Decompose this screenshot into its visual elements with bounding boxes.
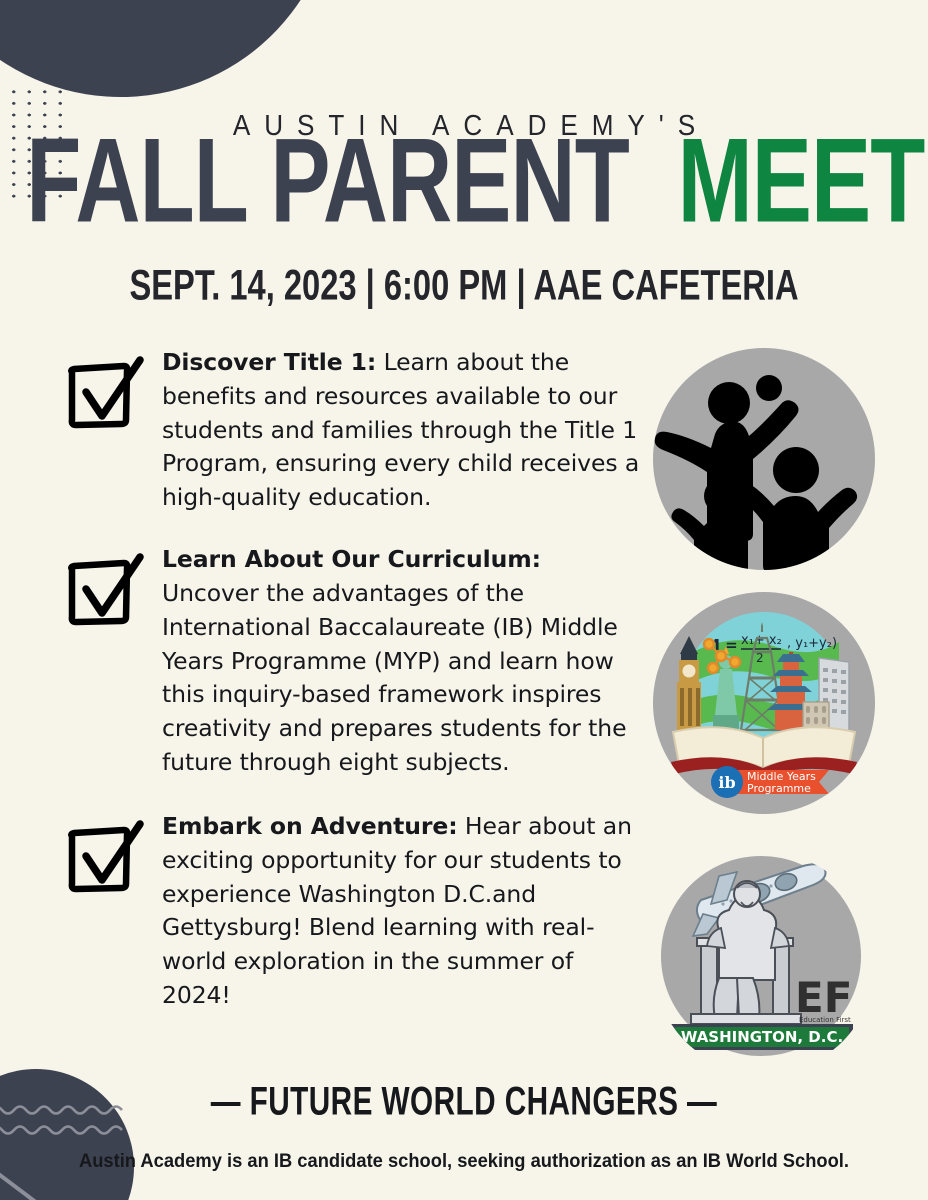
poster-canvas: AUSTIN ACADEMY'S FALL PARENT MEETING SEP… (0, 0, 928, 1200)
bullet-body: Uncover the advantages of the Internatio… (162, 579, 626, 776)
title-part-two: MEETING (677, 125, 928, 235)
dc-banner-text: WASHINGTON, D.C. (681, 1028, 843, 1046)
bullet-text-adventure: Embark on Adventure: Hear about an excit… (162, 810, 640, 1013)
svg-text:EF: EF (795, 973, 852, 1022)
checkbox-checked-icon (62, 818, 148, 898)
checkbox-checked-icon (62, 354, 148, 434)
bullet-heading: Embark on Adventure: (162, 812, 458, 840)
bullet-body: Hear about an exciting opportunity for o… (162, 812, 632, 1009)
ef-logo: EF Education First (795, 973, 852, 1024)
ib-myp-logo-image: M = x₁+ x₂ 2 , y₁+y₂) (653, 592, 875, 814)
title-1-family-icon (653, 348, 875, 570)
poster-header: AUSTIN ACADEMY'S FALL PARENT MEETING SEP… (0, 0, 928, 308)
page-title: FALL PARENT MEETING (0, 145, 928, 235)
bullet-text-title-1: Discover Title 1: Learn about the benefi… (162, 346, 640, 515)
bullet-heading: Learn About Our Curriculum: (162, 545, 541, 573)
tagline: — FUTURE WORLD CHANGERS — (70, 1079, 859, 1125)
event-details-line: SEPT. 14, 2023 | 6:00 PM | AAE CAFETERIA (65, 263, 863, 311)
ib-badge-line-2: Programme (747, 782, 811, 795)
svg-text:Education First: Education First (799, 1016, 851, 1024)
checkbox-checked-icon (62, 551, 148, 631)
title-part-one: FALL PARENT (26, 125, 629, 235)
bullet-text-curriculum: Learn About Our Curriculum: Uncover the … (162, 543, 640, 780)
ib-disclaimer: Austin Academy is an IB candidate school… (28, 1150, 900, 1173)
svg-text:, y₁+y₂): , y₁+y₂) (787, 636, 837, 651)
ib-badge-letters: ib (718, 773, 735, 792)
svg-text:x₁+ x₂: x₁+ x₂ (741, 633, 782, 648)
washington-dc-tour-image: EF Education First WASHINGTON, D.C. (653, 852, 875, 1074)
bullet-heading: Discover Title 1: (162, 348, 376, 376)
